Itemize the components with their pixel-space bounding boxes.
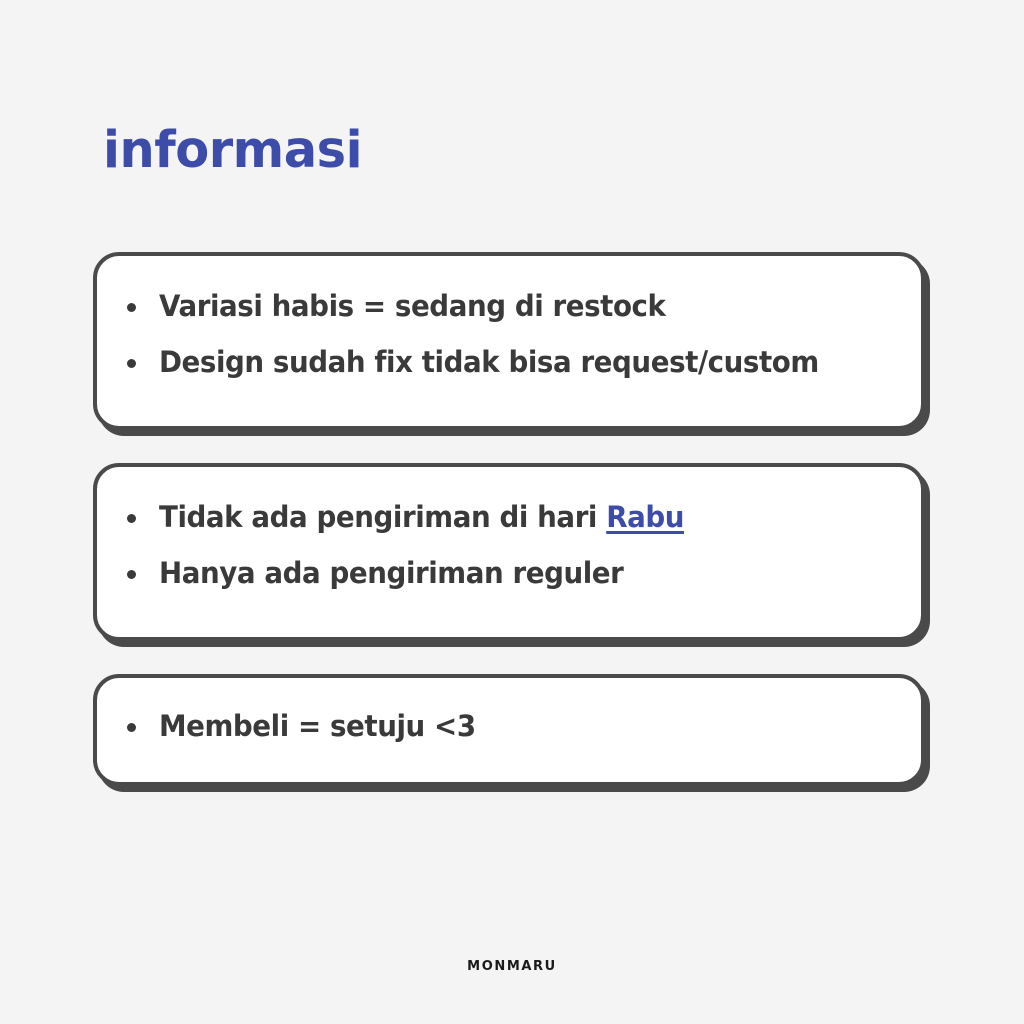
bullet-dot-icon xyxy=(127,303,136,312)
list-item: Membeli = setuju <3 xyxy=(127,708,891,745)
bullet-list: Variasi habis = sedang di restock Design… xyxy=(127,288,891,381)
list-item-label: Design sudah fix tidak bisa request/cust… xyxy=(159,344,819,381)
list-item-label: Variasi habis = sedang di restock xyxy=(159,288,666,325)
card-agreement-info: Membeli = setuju <3 xyxy=(93,674,925,786)
list-item: Design sudah fix tidak bisa request/cust… xyxy=(127,344,891,381)
list-item: Variasi habis = sedang di restock xyxy=(127,288,891,325)
card-stock-info: Variasi habis = sedang di restock Design… xyxy=(93,252,925,430)
bullet-dot-icon xyxy=(127,514,136,523)
list-item-text-before: Tidak ada pengiriman di hari xyxy=(159,500,606,534)
list-item-label: Tidak ada pengiriman di hari Rabu xyxy=(159,499,684,536)
rabu-link[interactable]: Rabu xyxy=(606,500,684,534)
info-card-list: Variasi habis = sedang di restock Design… xyxy=(93,252,931,786)
list-item-label: Membeli = setuju <3 xyxy=(159,708,476,745)
bullet-list: Tidak ada pengiriman di hari Rabu Hanya … xyxy=(127,499,891,592)
card-shipping-info: Tidak ada pengiriman di hari Rabu Hanya … xyxy=(93,463,925,641)
bullet-dot-icon xyxy=(127,723,136,732)
list-item: Tidak ada pengiriman di hari Rabu xyxy=(127,499,891,536)
bullet-dot-icon xyxy=(127,570,136,579)
page-title: informasi xyxy=(103,122,362,181)
list-item-label: Hanya ada pengiriman reguler xyxy=(159,555,623,592)
list-item: Hanya ada pengiriman reguler xyxy=(127,555,891,592)
bullet-list: Membeli = setuju <3 xyxy=(127,708,891,745)
info-poster: informasi Variasi habis = sedang di rest… xyxy=(0,0,1024,1024)
brand-wordmark: MONMARU xyxy=(0,953,1024,975)
bullet-dot-icon xyxy=(127,359,136,368)
